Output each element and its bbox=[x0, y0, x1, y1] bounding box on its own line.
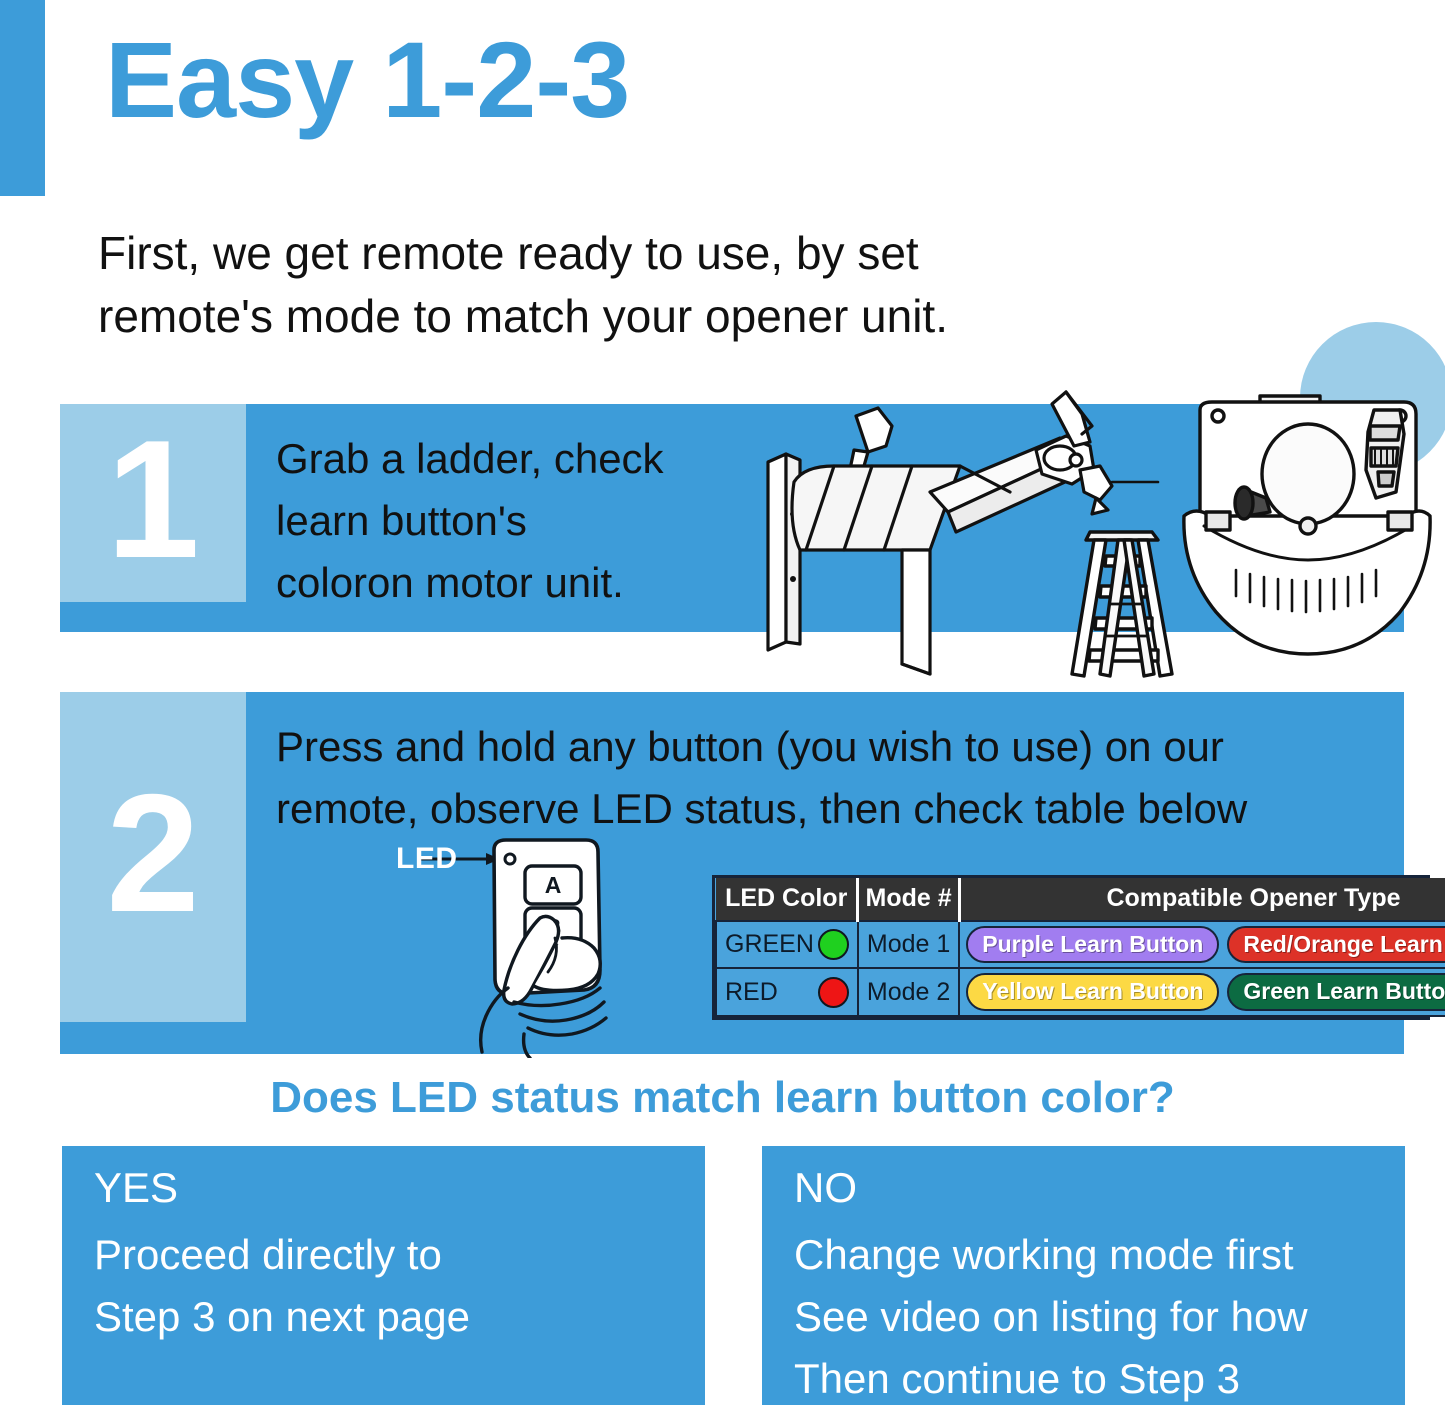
red-led-indicator-icon bbox=[818, 977, 849, 1008]
intro-line-2: remote's mode to match your opener unit. bbox=[98, 285, 1218, 348]
outcome-yes-line-1: Proceed directly to bbox=[94, 1224, 470, 1286]
table-row: RED Mode 2 Yellow Learn Button Green Lea… bbox=[716, 968, 1445, 1015]
cell-openers-mode-2: Yellow Learn Button Green Learn Button bbox=[959, 968, 1445, 1015]
pill-green-learn-button: Green Learn Button bbox=[1227, 973, 1445, 1010]
header-led-color: LED Color bbox=[716, 878, 858, 921]
led-color-label: RED bbox=[725, 978, 778, 1007]
step-1-number-box: 1 bbox=[60, 404, 246, 602]
intro-line-1: First, we get remote ready to use, by se… bbox=[98, 222, 1218, 285]
remote-button-a-label: A bbox=[545, 872, 562, 898]
pill-purple-learn-button: Purple Learn Button bbox=[966, 926, 1219, 963]
outcome-no-line-3: Then continue to Step 3 bbox=[794, 1348, 1308, 1410]
outcome-no-panel: NO Change working mode first See video o… bbox=[762, 1146, 1405, 1405]
page-title: Easy 1-2-3 bbox=[105, 26, 629, 134]
header-mode-number: Mode # bbox=[858, 878, 959, 921]
led-color-label: GREEN bbox=[725, 930, 814, 959]
step-1-number: 1 bbox=[106, 415, 199, 583]
cell-mode-1: Mode 1 bbox=[858, 921, 959, 968]
step-1-line-2: learn button's bbox=[276, 490, 746, 552]
step-2-line-2: remote, observe LED status, then check t… bbox=[276, 778, 1386, 840]
step-2-text: Press and hold any button (you wish to u… bbox=[276, 716, 1386, 840]
led-callout-label: LED bbox=[396, 842, 458, 876]
outcome-no-line-1: Change working mode first bbox=[794, 1224, 1308, 1286]
pill-red-orange-learn-button: Red/Orange Learn Button bbox=[1227, 926, 1445, 963]
green-led-indicator-icon bbox=[818, 929, 849, 960]
garage-opener-illustration bbox=[760, 374, 1445, 694]
step-2-panel: 2 Press and hold any button (you wish to… bbox=[60, 692, 1404, 1054]
cell-led-color-red: RED bbox=[716, 968, 858, 1015]
step-1-panel: 1 Grab a ladder, check learn button's co… bbox=[60, 404, 1404, 632]
header-compatible-opener-type: Compatible Opener Type bbox=[959, 878, 1445, 921]
pill-yellow-learn-button: Yellow Learn Button bbox=[966, 973, 1219, 1010]
outcome-yes-body: Proceed directly to Step 3 on next page bbox=[94, 1224, 470, 1348]
outcome-yes-heading: YES bbox=[94, 1160, 178, 1216]
outcome-no-line-2: See video on listing for how bbox=[794, 1286, 1308, 1348]
table-row: GREEN Mode 1 Purple Learn Button Red/Ora… bbox=[716, 921, 1445, 968]
outcome-no-body: Change working mode first See video on l… bbox=[794, 1224, 1308, 1410]
step-1-line-1: Grab a ladder, check bbox=[276, 428, 746, 490]
outcome-yes-panel: YES Proceed directly to Step 3 on next p… bbox=[62, 1146, 705, 1405]
outcome-no-heading: NO bbox=[794, 1160, 857, 1216]
header-accent-bar bbox=[0, 0, 45, 196]
step-1-text: Grab a ladder, check learn button's colo… bbox=[276, 428, 746, 614]
step-2-number: 2 bbox=[106, 769, 199, 937]
mode-compatibility-table: LED Color Mode # Compatible Opener Type … bbox=[712, 875, 1430, 1020]
step-2-number-box: 2 bbox=[60, 692, 246, 1022]
decision-question: Does LED status match learn button color… bbox=[0, 1073, 1445, 1123]
cell-mode-2: Mode 2 bbox=[858, 968, 959, 1015]
step-1-line-3: coloron motor unit. bbox=[276, 552, 746, 614]
step-2-line-1: Press and hold any button (you wish to u… bbox=[276, 716, 1386, 778]
cell-led-color-green: GREEN bbox=[716, 921, 858, 968]
remote-led-dot bbox=[505, 854, 515, 864]
cell-openers-mode-1: Purple Learn Button Red/Orange Learn But… bbox=[959, 921, 1445, 968]
table-header-row: LED Color Mode # Compatible Opener Type bbox=[716, 878, 1445, 921]
outcome-yes-line-2: Step 3 on next page bbox=[94, 1286, 470, 1348]
intro-paragraph: First, we get remote ready to use, by se… bbox=[98, 222, 1218, 348]
